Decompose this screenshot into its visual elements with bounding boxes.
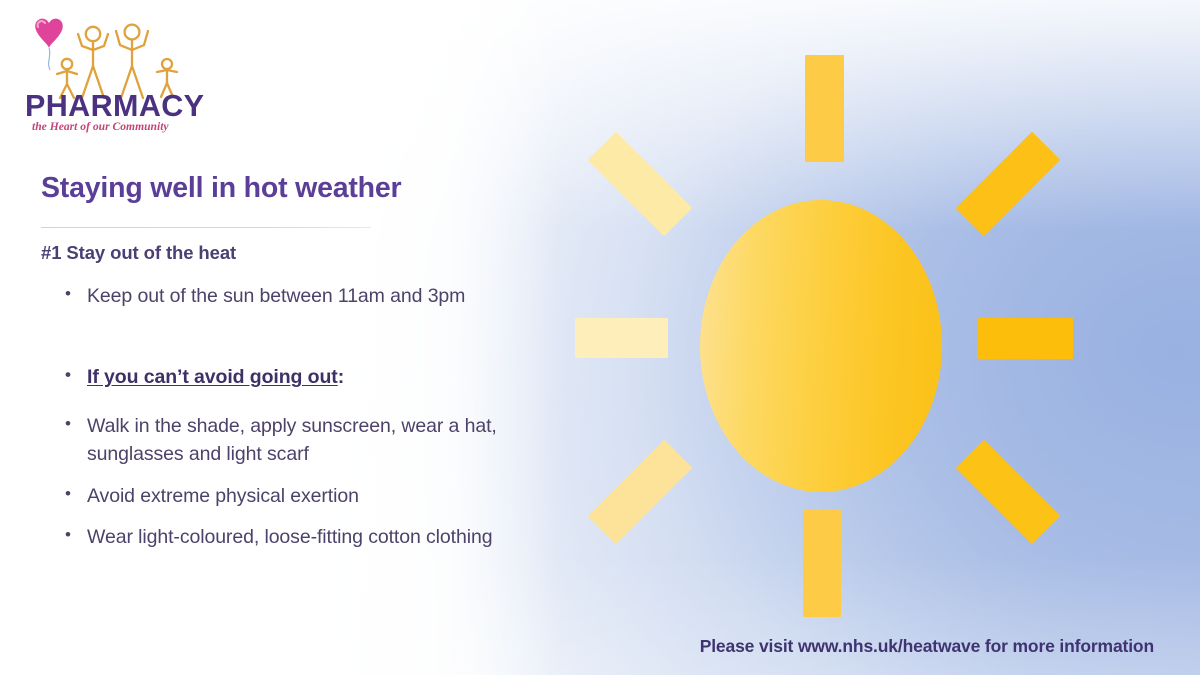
sun-core-icon xyxy=(700,200,942,492)
list-item: Avoid extreme physical exertion xyxy=(41,482,561,510)
sun-ray-southwest-icon xyxy=(588,440,693,545)
sun-ray-west-icon xyxy=(575,318,668,358)
sun-illustration xyxy=(560,20,1100,640)
list-item-text: Walk in the shade, apply sunscreen, wear… xyxy=(87,415,497,465)
list-item-emphasis: If you can’t avoid going out: xyxy=(41,363,561,391)
footer-note: Please visit www.nhs.uk/heatwave for mor… xyxy=(700,636,1154,657)
content-column: Staying well in hot weather #1 Stay out … xyxy=(41,172,561,552)
advice-list: Keep out of the sun between 11am and 3pm… xyxy=(41,282,561,552)
sun-ray-south-icon xyxy=(803,510,841,617)
balloon-icon xyxy=(35,19,63,70)
sun-ray-northeast-icon xyxy=(956,132,1061,237)
list-item: Walk in the shade, apply sunscreen, wear… xyxy=(41,412,561,469)
family-figures-icon xyxy=(57,25,177,98)
list-item: Keep out of the sun between 11am and 3pm xyxy=(41,282,561,310)
sun-ray-east-icon xyxy=(978,318,1073,359)
sun-ray-northwest-icon xyxy=(588,132,693,237)
list-item-text: Wear light-coloured, loose-fitting cotto… xyxy=(87,526,492,548)
logo-wordmark: PHARMACY xyxy=(25,89,204,123)
page-title: Staying well in hot weather xyxy=(41,172,561,205)
list-item-text: Keep out of the sun between 11am and 3pm xyxy=(87,285,465,307)
logo-tagline: the Heart of our Community xyxy=(32,120,169,133)
sun-ray-north-icon xyxy=(805,55,844,162)
list-item: Wear light-coloured, loose-fitting cotto… xyxy=(41,523,561,551)
title-divider xyxy=(41,227,371,228)
slide-canvas: PHARMACY the Heart of our Community Stay… xyxy=(0,0,1200,675)
list-item-suffix: : xyxy=(338,366,344,388)
list-item-text: If you can’t avoid going out xyxy=(87,366,338,388)
section-heading: #1 Stay out of the heat xyxy=(41,242,561,264)
list-item-text: Avoid extreme physical exertion xyxy=(87,485,359,507)
sun-ray-southeast-icon xyxy=(956,440,1061,545)
pharmacy-logo: PHARMACY the Heart of our Community xyxy=(12,8,222,133)
